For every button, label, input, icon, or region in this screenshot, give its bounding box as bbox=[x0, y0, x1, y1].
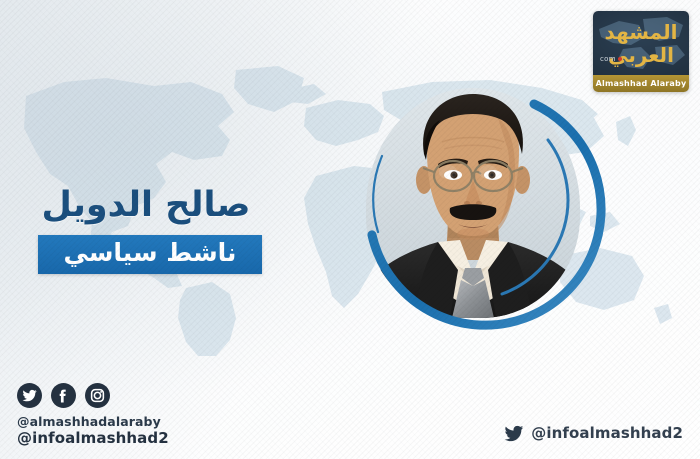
social-handle-primary[interactable]: @almashhadalaraby bbox=[17, 415, 169, 430]
promo-card: صالح الدويل ناشط سياسي المشهد العربي co bbox=[0, 0, 700, 459]
blue-ring-accent bbox=[352, 82, 594, 324]
portrait bbox=[352, 82, 594, 324]
social-icon-row bbox=[17, 383, 169, 408]
social-handles: @almashhadalaraby @infoalmashhad2 bbox=[17, 415, 169, 448]
social-handle-secondary[interactable]: @infoalmashhad2 bbox=[17, 430, 169, 448]
footer-handle[interactable]: @infoalmashhad2 bbox=[531, 424, 683, 442]
logo-emblem: المشهد العربي com bbox=[593, 11, 689, 75]
facebook-icon[interactable] bbox=[51, 383, 76, 408]
footer-twitter-block[interactable]: @infoalmashhad2 bbox=[504, 424, 683, 442]
page-title: صالح الدويل bbox=[0, 186, 300, 225]
role-badge: ناشط سياسي bbox=[38, 235, 263, 274]
social-block: @almashhadalaraby @infoalmashhad2 bbox=[17, 383, 169, 448]
twitter-icon[interactable] bbox=[17, 383, 42, 408]
instagram-icon[interactable] bbox=[85, 383, 110, 408]
logo-caption: Almashhad Alaraby bbox=[593, 75, 689, 92]
name-block: صالح الدويل ناشط سياسي bbox=[0, 186, 300, 274]
logo-com-text: com bbox=[600, 55, 616, 63]
logo-line-1: المشهد bbox=[593, 22, 689, 42]
twitter-icon bbox=[504, 425, 524, 441]
logo-red-dot-icon bbox=[618, 57, 622, 61]
brand-logo[interactable]: المشهد العربي com Almashhad Alaraby bbox=[593, 11, 689, 92]
